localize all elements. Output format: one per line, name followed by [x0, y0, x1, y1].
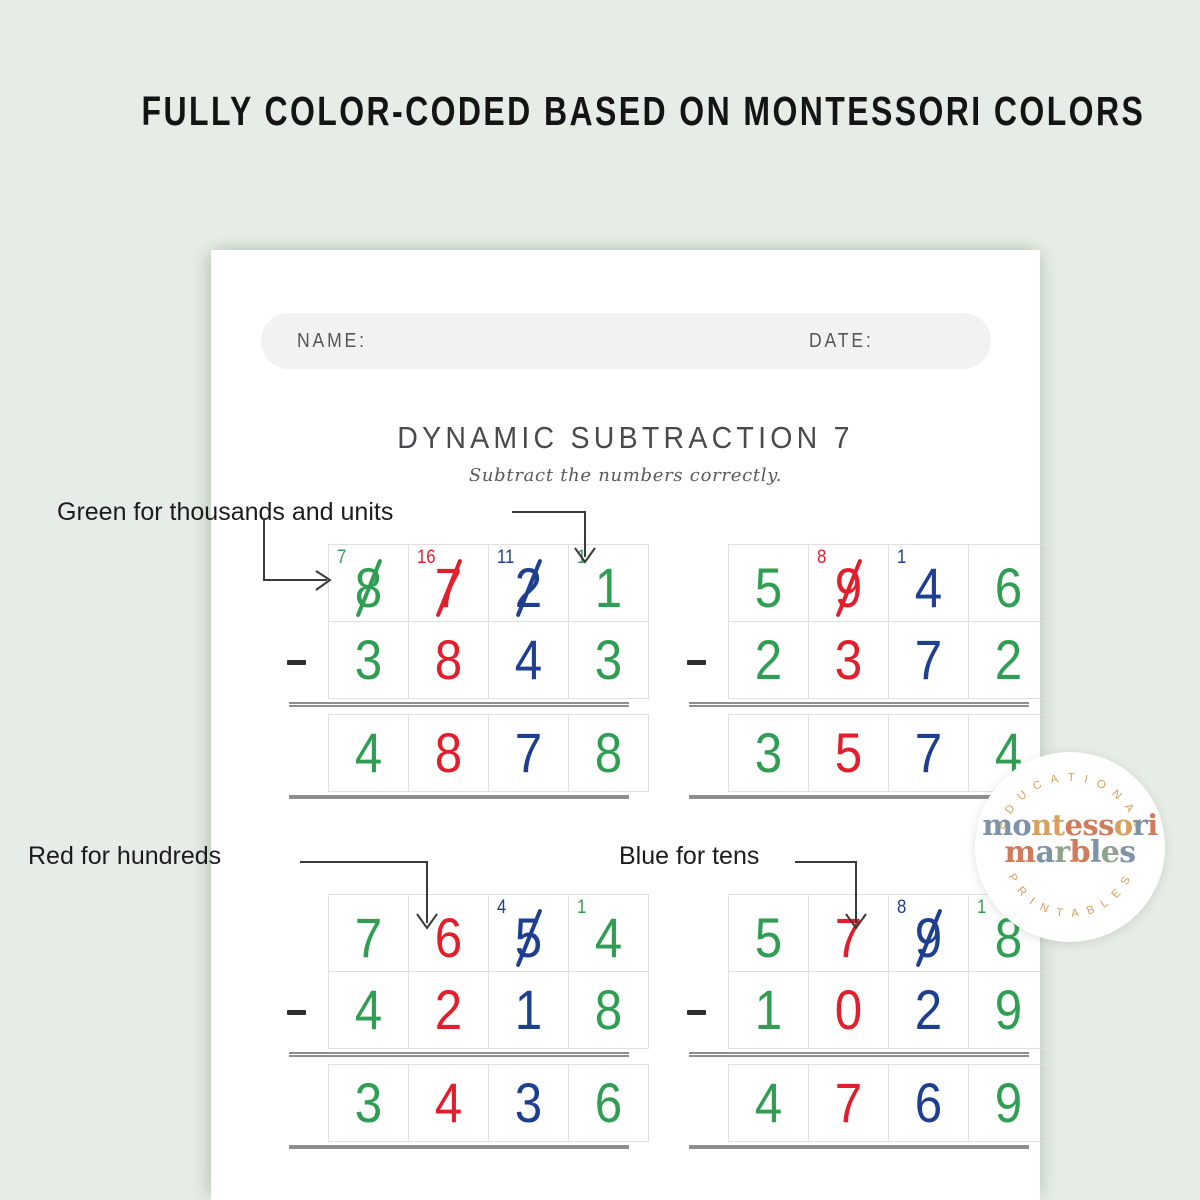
answer-digit: 8: [574, 715, 644, 791]
answer-cell: 4: [408, 1064, 489, 1142]
minuend-cell: 5: [728, 544, 809, 622]
answer-underline: [289, 1145, 629, 1149]
subtrahend-cell: 7: [888, 621, 969, 699]
answer-cell: 9: [968, 1064, 1049, 1142]
subtraction-rule: [689, 702, 1029, 707]
logo-wordmark: montessori marbles: [975, 812, 1165, 867]
minuend-cell: 14: [888, 544, 969, 622]
answer-grid: 4878: [329, 715, 649, 792]
answer-cell: 5: [808, 714, 889, 792]
answer-cell: 6: [888, 1064, 969, 1142]
subtrahend-cell: 2: [728, 621, 809, 699]
logo-letter: b: [1070, 839, 1090, 867]
subtrahend-digit: 2: [974, 622, 1044, 698]
date-label: DATE:: [809, 330, 874, 353]
subtrahend-cell: 8: [408, 621, 489, 699]
logo-letter: m: [1004, 839, 1035, 867]
banner: FULLY COLOR-CODED BASED ON MONTESSORI CO…: [0, 88, 1200, 135]
subtrahend-cell: 1: [728, 971, 809, 1049]
minus-operator: [287, 1010, 306, 1015]
minus-operator: [287, 660, 306, 665]
minuend-digit: 6: [974, 545, 1044, 621]
answer-digit: 3: [494, 1065, 564, 1141]
answer-cell: 3: [488, 1064, 569, 1142]
answer-cell: 7: [888, 714, 969, 792]
operands-grid: 5891462372: [729, 545, 1049, 699]
subtrahend-digit: 8: [574, 972, 644, 1048]
answer-digit: 6: [894, 1065, 964, 1141]
subtraction-rule: [289, 702, 629, 707]
logo-letter: s: [1119, 839, 1135, 867]
minuend-digit: 4: [894, 545, 964, 621]
subtrahend-cell: 4: [328, 971, 409, 1049]
name-label: NAME:: [297, 330, 367, 353]
svg-text:P R I N T A B L E S: P R I N T A B L E S: [1005, 872, 1134, 920]
minuend-cell: 89: [808, 544, 889, 622]
logo-letter: l: [1090, 839, 1101, 867]
answer-digit: 8: [414, 715, 484, 791]
answer-grid: 4769: [729, 1065, 1049, 1142]
answer-cell: 7: [808, 1064, 889, 1142]
answer-cell: 3: [328, 1064, 409, 1142]
worksheet-title: DYNAMIC SUBTRACTION 7: [244, 420, 1007, 456]
answer-digit: 7: [894, 715, 964, 791]
annotation-red-arrow: [0, 830, 620, 940]
answer-digit: 7: [494, 715, 564, 791]
subtrahend-cell: 2: [968, 621, 1049, 699]
answer-cell: 3: [728, 714, 809, 792]
minuend-cell: 6: [968, 544, 1049, 622]
logo-letter: e: [1101, 839, 1120, 867]
answer-digit: 6: [574, 1065, 644, 1141]
answer-digit: 7: [814, 1065, 884, 1141]
subtraction-rule: [689, 1052, 1029, 1057]
answer-cell: 8: [568, 714, 649, 792]
answer-grid: 3436: [329, 1065, 649, 1142]
logo-line-2: marbles: [975, 839, 1165, 867]
minus-operator: [687, 660, 706, 665]
subtrahend-cell: 8: [568, 971, 649, 1049]
answer-cell: 7: [488, 714, 569, 792]
annotation-green-arrows: [0, 480, 620, 600]
worksheet-sheet: NAME: DATE: DYNAMIC SUBTRACTION 7 Subtra…: [211, 250, 1040, 1200]
answer-cell: 4: [328, 714, 409, 792]
answer-digit: 3: [734, 715, 804, 791]
subtrahend-digit: 0: [814, 972, 884, 1048]
answer-cell: 6: [568, 1064, 649, 1142]
subtrahend-cell: 1: [488, 971, 569, 1049]
answer-digit: 3: [334, 1065, 404, 1141]
answer-digit: 4: [414, 1065, 484, 1141]
annotation-blue-arrow: [600, 830, 960, 940]
subtraction-rule: [289, 1052, 629, 1057]
minuend-digit: 5: [734, 545, 804, 621]
subtrahend-digit: 1: [494, 972, 564, 1048]
subtrahend-digit: 4: [494, 622, 564, 698]
subtrahend-digit: 7: [894, 622, 964, 698]
subtrahend-cell: 3: [808, 621, 889, 699]
subtrahend-digit: 3: [334, 622, 404, 698]
banner-title: FULLY COLOR-CODED BASED ON MONTESSORI CO…: [142, 88, 1146, 135]
answer-digit: 4: [334, 715, 404, 791]
subtrahend-digit: 4: [334, 972, 404, 1048]
subtrahend-cell: 9: [968, 971, 1049, 1049]
subtrahend-digit: 8: [414, 622, 484, 698]
answer-underline: [689, 1145, 1029, 1149]
logo-letter: a: [1036, 839, 1055, 867]
subtrahend-digit: 1: [734, 972, 804, 1048]
subtrahend-cell: 2: [408, 971, 489, 1049]
subtrahend-cell: 4: [488, 621, 569, 699]
subtrahend-digit: 9: [974, 972, 1044, 1048]
subtrahend-digit: 2: [734, 622, 804, 698]
subtrahend-cell: 3: [568, 621, 649, 699]
subtrahend-cell: 3: [328, 621, 409, 699]
answer-cell: 8: [408, 714, 489, 792]
name-date-bar: NAME: DATE:: [261, 313, 991, 369]
answer-digit: 9: [974, 1065, 1044, 1141]
brand-logo: E D U C A T I O N A L P R I N T A B L E …: [975, 752, 1165, 942]
subtrahend-cell: 0: [808, 971, 889, 1049]
answer-digit: 4: [734, 1065, 804, 1141]
answer-digit: 5: [814, 715, 884, 791]
subtrahend-digit: 3: [814, 622, 884, 698]
subtrahend-digit: 2: [894, 972, 964, 1048]
logo-letter: i: [1147, 812, 1157, 839]
subtrahend-digit: 3: [574, 622, 644, 698]
answer-underline: [289, 795, 629, 799]
answer-cell: 4: [728, 1064, 809, 1142]
subtrahend-digit: 2: [414, 972, 484, 1048]
logo-letter: r: [1054, 839, 1069, 867]
minus-operator: [687, 1010, 706, 1015]
subtrahend-cell: 2: [888, 971, 969, 1049]
